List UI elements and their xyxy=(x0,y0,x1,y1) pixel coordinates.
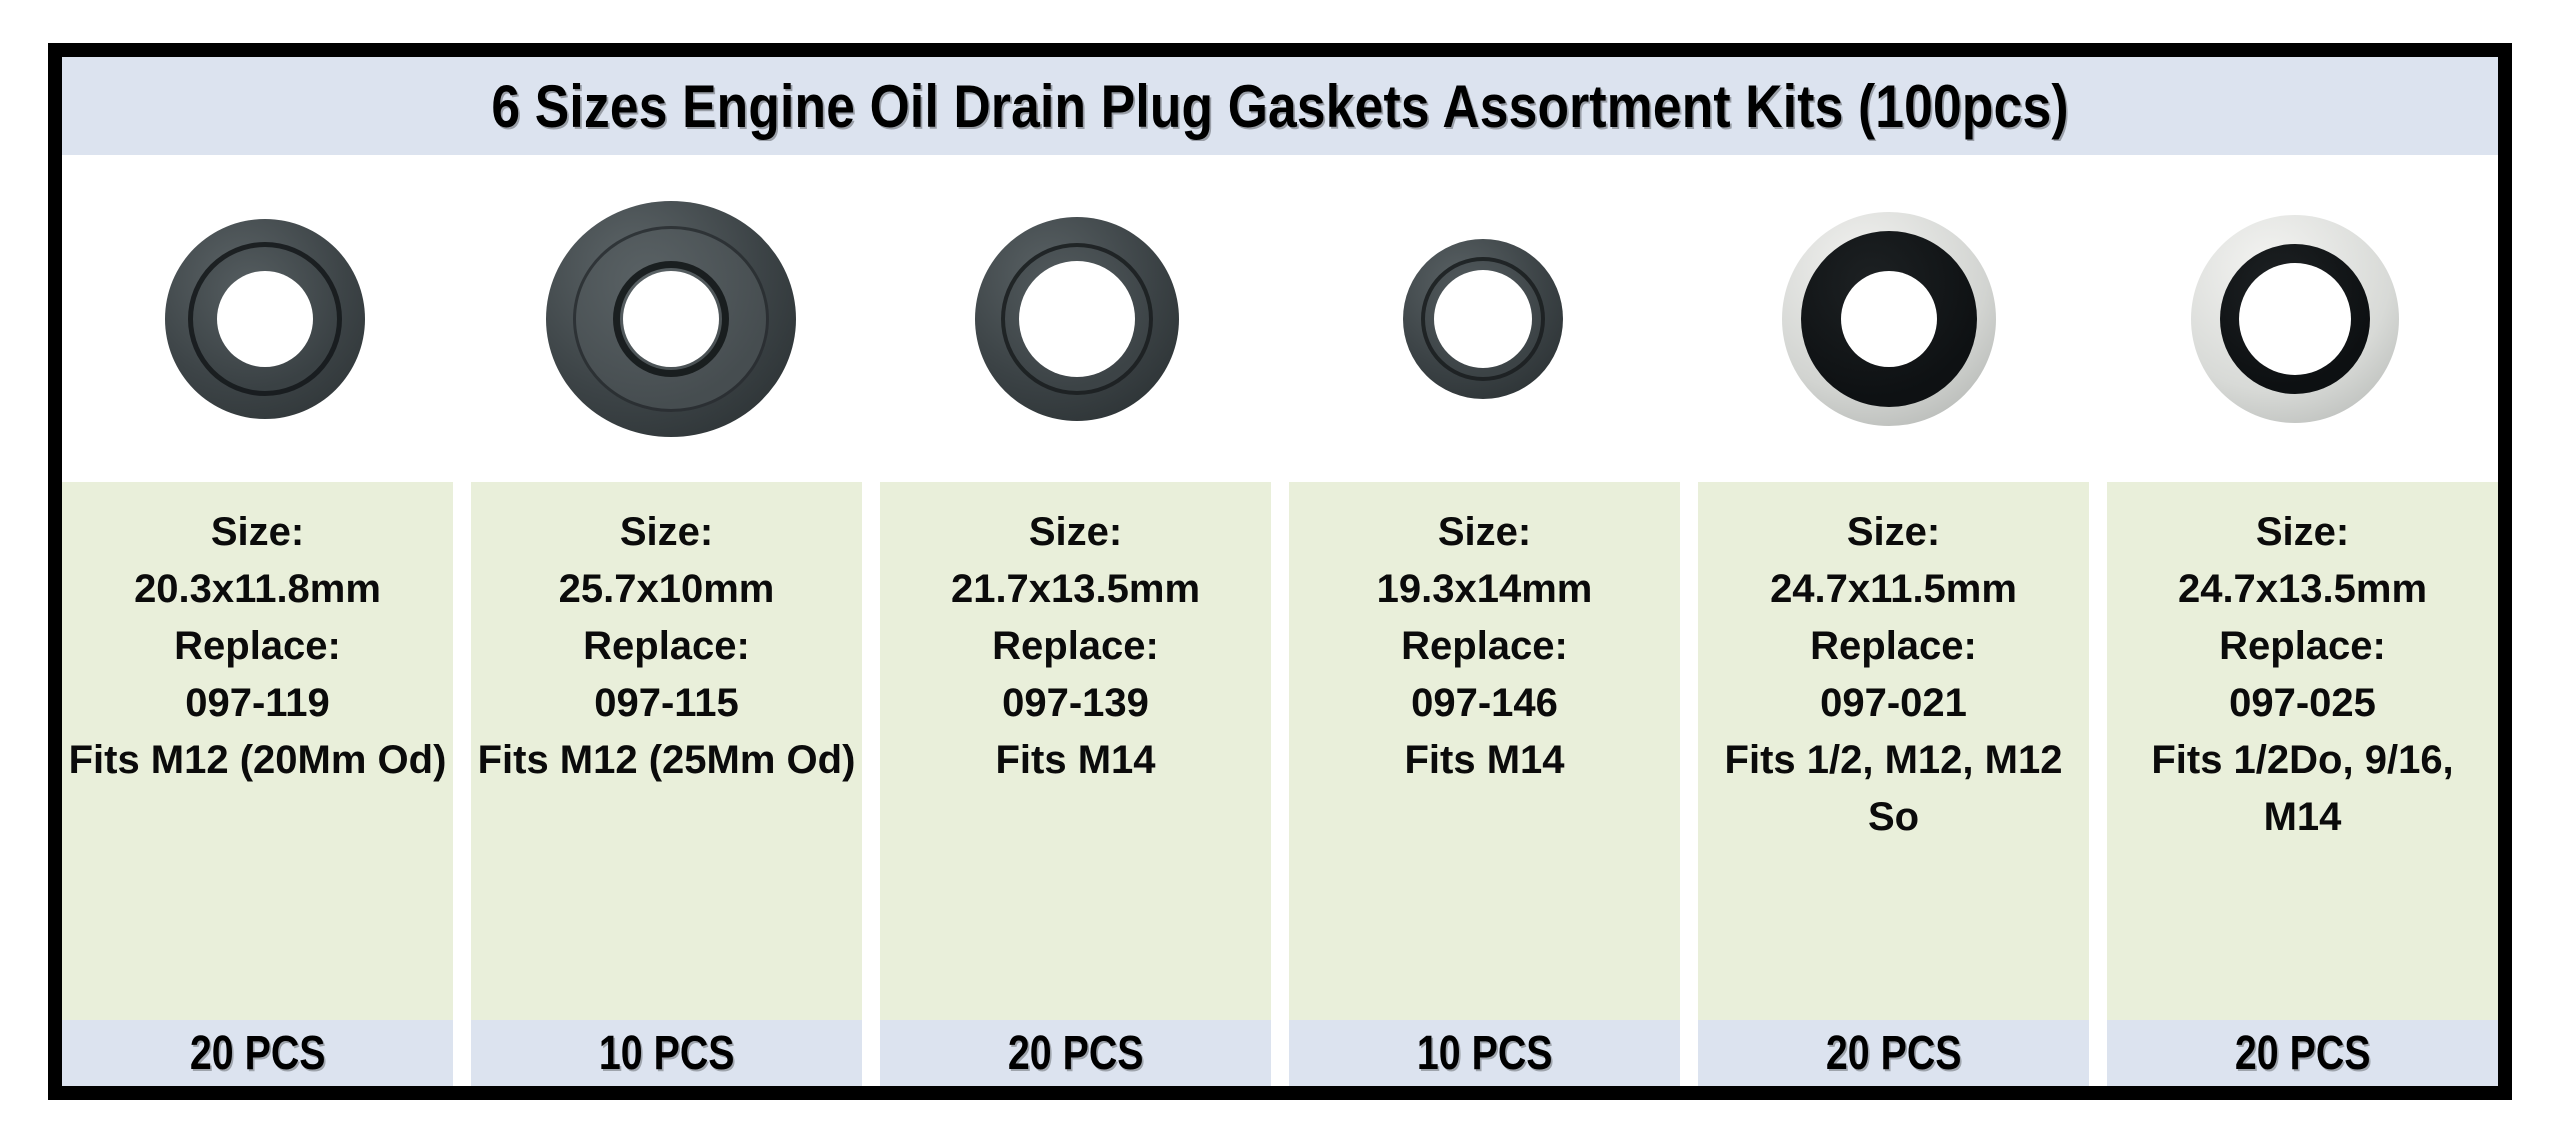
page-title: 6 Sizes Engine Oil Drain Plug Gaskets As… xyxy=(491,72,2068,141)
rubber-gasket-large-bore-icon xyxy=(975,217,1179,421)
spec-cell-5: Size: 24.7x11.5mm Replace: 097-021 Fits … xyxy=(1698,482,2089,1020)
spec-cell-2: Size: 25.7x10mm Replace: 097-115 Fits M1… xyxy=(471,482,862,1020)
fits-value: Fits M14 xyxy=(1295,732,1674,789)
fits-value: Fits 1/2, M12, M12 So xyxy=(1704,732,2083,846)
product-image-cell xyxy=(1280,155,1686,482)
product-info-card: 6 Sizes Engine Oil Drain Plug Gaskets As… xyxy=(48,43,2512,1100)
replace-value: 097-025 xyxy=(2113,675,2492,732)
size-label: Size: xyxy=(886,504,1265,561)
bonded-seal-washer-wide-metal-icon xyxy=(2191,215,2399,423)
replace-label: Replace: xyxy=(886,618,1265,675)
size-label: Size: xyxy=(477,504,856,561)
spec-cell-4: Size: 19.3x14mm Replace: 097-146 Fits M1… xyxy=(1289,482,1680,1020)
rubber-gasket-ring-icon xyxy=(165,219,365,419)
replace-label: Replace: xyxy=(1704,618,2083,675)
fits-value: Fits M12 (25Mm Od) xyxy=(477,732,856,789)
quantity-value: 20 PCS xyxy=(190,1026,326,1081)
product-image-strip xyxy=(62,155,2498,482)
header-band: 6 Sizes Engine Oil Drain Plug Gaskets As… xyxy=(62,57,2498,155)
quantity-row: 20 PCS 10 PCS 20 PCS 10 PCS 20 PCS 20 PC… xyxy=(62,1020,2498,1086)
spec-columns: Size: 20.3x11.8mm Replace: 097-119 Fits … xyxy=(62,482,2498,1020)
fits-value: Fits 1/2Do, 9/16, M14 xyxy=(2113,732,2492,846)
size-value: 20.3x11.8mm xyxy=(68,561,447,618)
size-value: 19.3x14mm xyxy=(1295,561,1674,618)
product-image-cell xyxy=(62,155,468,482)
fits-value: Fits M14 xyxy=(886,732,1265,789)
quantity-value: 20 PCS xyxy=(2235,1026,2371,1081)
rubber-gasket-thin-ring-icon xyxy=(1403,239,1563,399)
quantity-value: 20 PCS xyxy=(1826,1026,1962,1081)
fits-value: Fits M12 (20Mm Od) xyxy=(68,732,447,789)
replace-value: 097-139 xyxy=(886,675,1265,732)
size-label: Size: xyxy=(68,504,447,561)
size-value: 25.7x10mm xyxy=(477,561,856,618)
bonded-seal-washer-thick-rubber-icon xyxy=(1782,212,1996,426)
product-image-cell xyxy=(1686,155,2092,482)
quantity-cell-4: 10 PCS xyxy=(1289,1020,1680,1086)
quantity-value: 10 PCS xyxy=(599,1026,735,1081)
size-label: Size: xyxy=(2113,504,2492,561)
quantity-cell-6: 20 PCS xyxy=(2107,1020,2498,1086)
spec-cell-6: Size: 24.7x13.5mm Replace: 097-025 Fits … xyxy=(2107,482,2498,1020)
replace-value: 097-146 xyxy=(1295,675,1674,732)
size-value: 24.7x13.5mm xyxy=(2113,561,2492,618)
spec-cell-1: Size: 20.3x11.8mm Replace: 097-119 Fits … xyxy=(62,482,453,1020)
quantity-cell-1: 20 PCS xyxy=(62,1020,453,1086)
size-label: Size: xyxy=(1295,504,1674,561)
size-label: Size: xyxy=(1704,504,2083,561)
quantity-cell-2: 10 PCS xyxy=(471,1020,862,1086)
spec-cell-3: Size: 21.7x13.5mm Replace: 097-139 Fits … xyxy=(880,482,1271,1020)
product-image-cell xyxy=(2092,155,2498,482)
quantity-value: 20 PCS xyxy=(1008,1026,1144,1081)
product-image-cell xyxy=(874,155,1280,482)
replace-label: Replace: xyxy=(477,618,856,675)
product-image-cell xyxy=(468,155,874,482)
replace-label: Replace: xyxy=(1295,618,1674,675)
quantity-cell-3: 20 PCS xyxy=(880,1020,1271,1086)
quantity-value: 10 PCS xyxy=(1417,1026,1553,1081)
replace-value: 097-021 xyxy=(1704,675,2083,732)
replace-value: 097-119 xyxy=(68,675,447,732)
replace-label: Replace: xyxy=(2113,618,2492,675)
size-value: 21.7x13.5mm xyxy=(886,561,1265,618)
size-value: 24.7x11.5mm xyxy=(1704,561,2083,618)
replace-value: 097-115 xyxy=(477,675,856,732)
replace-label: Replace: xyxy=(68,618,447,675)
rubber-gasket-wide-flange-icon xyxy=(546,201,796,437)
quantity-cell-5: 20 PCS xyxy=(1698,1020,2089,1086)
